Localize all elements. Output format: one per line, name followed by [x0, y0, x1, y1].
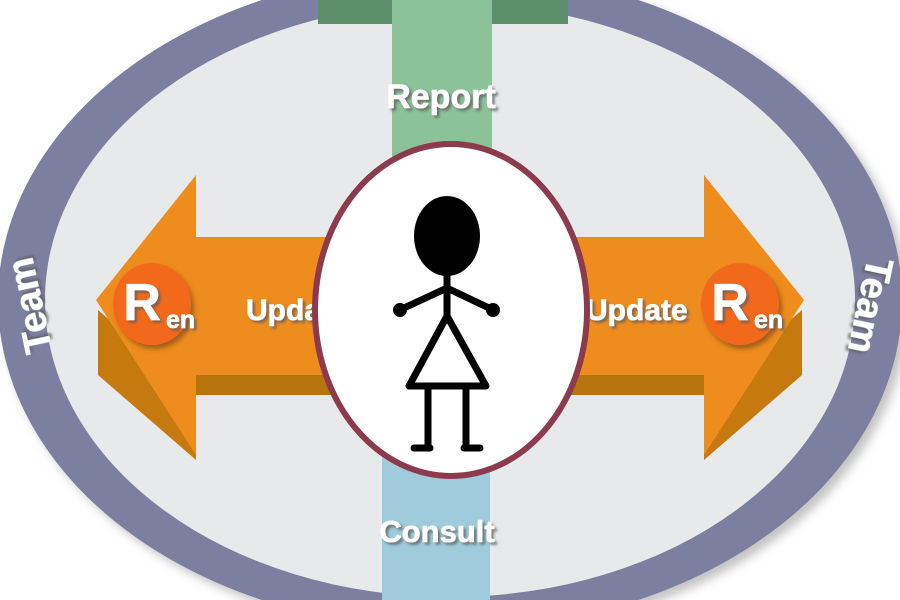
figure-hand-right — [486, 303, 500, 317]
update-left-badge-sub: en — [166, 306, 195, 334]
consult-label: Consult — [379, 514, 494, 549]
update-right-badge-sub: en — [754, 306, 783, 334]
figure-head — [414, 196, 480, 276]
update-right-badge-main: R — [711, 274, 749, 332]
update-left-badge-main: R — [123, 274, 161, 332]
team-communication-diagram: Report Consult R en Update — [0, 0, 900, 600]
update-right-label: Update — [586, 294, 688, 327]
center-oval — [315, 144, 587, 476]
figure-hand-left — [393, 303, 407, 317]
report-label: Report — [386, 78, 496, 116]
center-node[interactable] — [315, 144, 587, 476]
diagram-canvas: Report Consult R en Update — [0, 0, 900, 600]
